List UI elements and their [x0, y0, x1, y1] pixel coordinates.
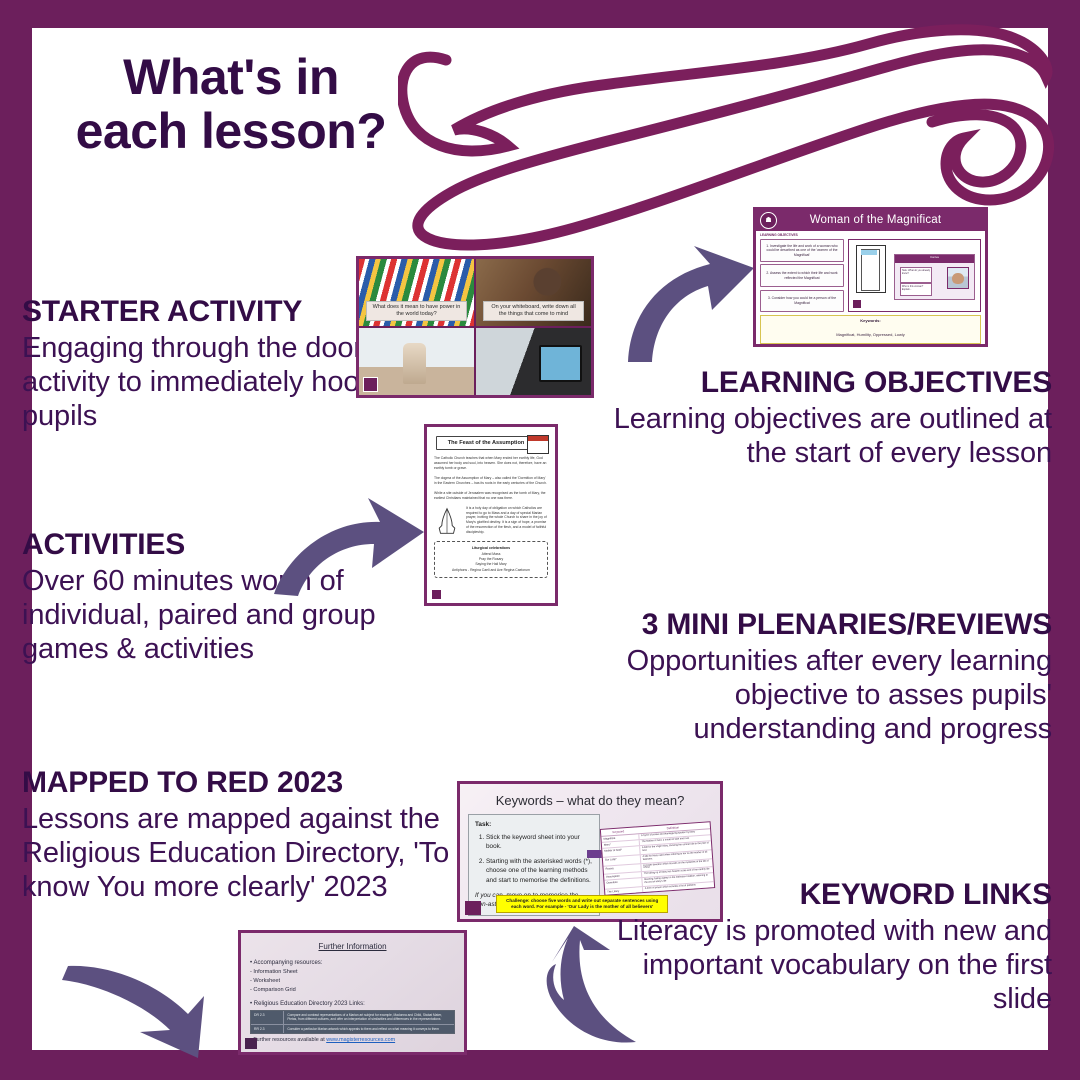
section-body: Lessons are mapped against the Religious…	[22, 802, 458, 905]
red-links-label-text: Religious Education Directory 2023 Links…	[254, 1001, 365, 1007]
flags-photo: What does it mean to have power in the w…	[359, 259, 474, 326]
cell-text: Compare and contrast representations of …	[284, 1011, 454, 1023]
resources-label: • Accompanying resources:	[250, 959, 455, 968]
slide-title: Woman of the Magnificat	[780, 214, 985, 226]
table-row: DR 2.3 Compare and contrast representati…	[251, 1011, 454, 1024]
curved-arrow-right-icon	[268, 490, 428, 600]
section-mapped-to-red: MAPPED TO RED 2023 Lessons are mapped ag…	[22, 766, 458, 904]
section-body: Literacy is promoted with new and import…	[600, 914, 1052, 1017]
resource-item: - Worksheet	[250, 977, 455, 986]
learning-objectives-label: LEARNING OBJECTIVES	[760, 234, 981, 238]
slide-logo	[465, 901, 481, 915]
slide-canvas-area: Canva Task: What do you already know? Wh…	[848, 239, 981, 312]
resource-item: - Comparison Grid	[250, 986, 455, 995]
judge-photo: On your whiteboard, write down all the t…	[476, 259, 591, 326]
embedded-mini-slide: Canva Task: What do you already know? Wh…	[894, 254, 975, 300]
box-title: Liturgical celebrations	[438, 546, 544, 550]
door-graphic-icon	[856, 245, 887, 294]
photo-collage: What does it mean to have power in the w…	[359, 259, 591, 395]
praying-hands-icon	[434, 506, 460, 536]
camera-photo	[476, 328, 591, 395]
mini-note-2: Who is this woman? Explain...	[900, 283, 932, 297]
cell-code: DR 2.3	[251, 1011, 284, 1023]
section-heading: KEYWORD LINKS	[600, 878, 1052, 912]
resources-label-text: Accompanying resources:	[253, 960, 322, 966]
worksheet-page: The Feast of the Assumption The Catholic…	[427, 427, 555, 603]
table-row: RR 2.3 Consider a particular Marian artw…	[251, 1025, 454, 1033]
section-heading: STARTER ACTIVITY	[22, 295, 382, 329]
keywords-value: Magnificat, Humility, Oppressed, Lowly	[836, 332, 905, 337]
section-starter-activity: STARTER ACTIVITY Engaging through the do…	[22, 295, 382, 433]
resource-item-text: Comparison Grid	[253, 987, 295, 993]
magister-resources-link[interactable]: www.magisterresources.com	[326, 1037, 395, 1043]
poster-root: What's in each lesson? STARTER ACTIVITY …	[0, 0, 1080, 1080]
feast-of-the-assumption-worksheet[interactable]: The Feast of the Assumption The Catholic…	[424, 424, 558, 606]
resource-item-text: Information Sheet	[253, 969, 297, 975]
slide-title-bar: ☗ Woman of the Magnificat	[756, 210, 985, 231]
collage-caption-2: On your whiteboard, write down all the t…	[483, 301, 584, 321]
curved-arrow-down-right-icon	[58, 950, 240, 1062]
cell-text: Consider a particular Marian artwork whi…	[284, 1025, 454, 1033]
further-info-title: Further Information	[250, 942, 455, 951]
portrait-image	[947, 267, 969, 289]
starter-activity-slide[interactable]: What does it mean to have power in the w…	[356, 256, 594, 398]
page-title: What's in each lesson?	[66, 50, 396, 158]
objective-1: 1. Investigate the life and work of a wo…	[760, 239, 844, 262]
mini-slide-title: Canva	[895, 255, 974, 262]
worksheet-logo	[432, 590, 441, 599]
worksheet-paragraph-1: The Catholic Church teaches that when Ma…	[434, 456, 548, 471]
further-resources-footer: • Further resources available at www.mag…	[250, 1037, 395, 1043]
collage-caption-1: What does it mean to have power in the w…	[366, 301, 467, 321]
section-body: Engaging through the door activity to im…	[22, 331, 382, 434]
section-keyword-links: KEYWORD LINKS Literacy is promoted with …	[600, 878, 1052, 1016]
slide-body: LEARNING OBJECTIVES 1. Investigate the l…	[756, 231, 985, 344]
task-item: Stick the keyword sheet into your book.	[486, 833, 593, 852]
corner-square	[853, 300, 861, 308]
red-links-table: DR 2.3 Compare and contrast representati…	[250, 1010, 455, 1033]
objective-2: 2. Assess the extent to which their life…	[760, 264, 844, 287]
mini-note-1: Task: What do you already know?	[900, 267, 932, 283]
calendar-icon	[527, 435, 549, 454]
cell-code: RR 2.3	[251, 1025, 284, 1033]
objective-3: 3. Consider how you could be a person of…	[760, 290, 844, 313]
section-heading: MAPPED TO RED 2023	[22, 766, 458, 800]
worksheet-paragraph-3: While a site outside of Jerusalem was re…	[434, 491, 548, 501]
section-mini-plenaries: 3 MINI PLENARIES/REVIEWS Opportunities a…	[560, 608, 1052, 746]
box-item: Antiphons - Regina Caeli and Ave Regina …	[438, 568, 544, 573]
objectives-list: 1. Investigate the life and work of a wo…	[760, 239, 844, 312]
slide-logo	[245, 1038, 257, 1049]
resource-item: - Information Sheet	[250, 968, 455, 977]
footer-prefix: Further resources available at	[253, 1037, 326, 1043]
worksheet-paragraph-2: The dogma of the Assumption of Mary – al…	[434, 476, 548, 486]
door-label	[861, 250, 877, 256]
section-body: Learning objectives are outlined at the …	[600, 402, 1052, 470]
section-body: Opportunities after every learning objec…	[560, 644, 1052, 747]
task-item: Starting with the asterisked words (*), …	[486, 857, 593, 886]
liturgical-celebrations-box: Liturgical celebrations Attend Mass Pray…	[434, 541, 548, 577]
keywords-label: Keywords:	[763, 318, 978, 323]
section-heading: 3 MINI PLENARIES/REVIEWS	[560, 608, 1052, 642]
keywords-box: Keywords: Magnificat, Humility, Oppresse…	[760, 315, 981, 344]
magister-badge-icon: ☗	[760, 212, 777, 229]
further-information-slide[interactable]: Further Information • Accompanying resou…	[238, 930, 467, 1055]
keywords-slide-title: Keywords – what do they mean?	[468, 793, 712, 808]
resource-item-text: Worksheet	[253, 978, 280, 984]
red-links-label: • Religious Education Directory 2023 Lin…	[250, 1001, 455, 1007]
task-label: Task:	[475, 820, 593, 830]
section-learning-objectives: LEARNING OBJECTIVES Learning objectives …	[600, 366, 1052, 470]
woman-of-the-magnificat-slide[interactable]: ☗ Woman of the Magnificat LEARNING OBJEC…	[753, 207, 988, 347]
worksheet-title: The Feast of the Assumption	[436, 436, 536, 450]
further-info-body: Further Information • Accompanying resou…	[241, 933, 464, 1052]
section-heading: LEARNING OBJECTIVES	[600, 366, 1052, 400]
slide-logo	[363, 377, 378, 392]
